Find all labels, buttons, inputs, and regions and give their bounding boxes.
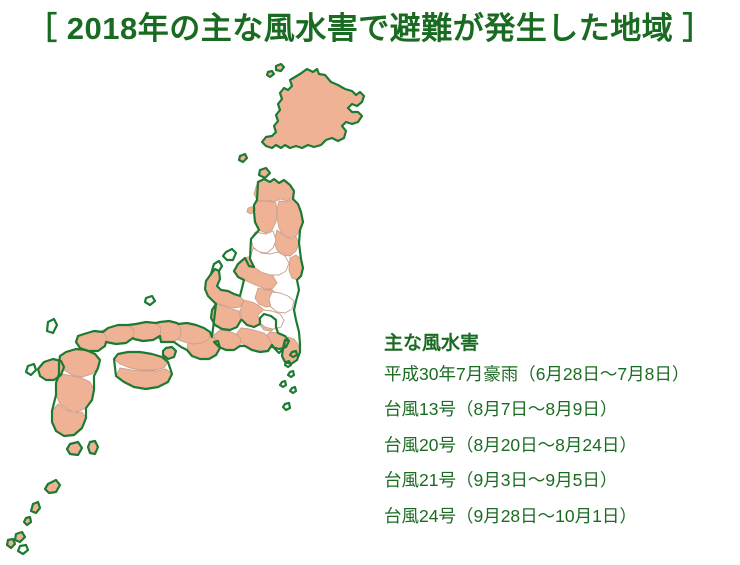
- japan-prefecture-map: 2018年の主な風水害で避難が発生した地域を示す日本地図: [0, 52, 400, 565]
- region-tochigi-ibaraki: [269, 292, 294, 313]
- region-shizuoka: [237, 328, 272, 352]
- affected-prefectures-layer: [7, 64, 364, 548]
- coast-sado-island: [223, 249, 236, 260]
- region-ehime-kagawa: [114, 352, 168, 370]
- legend-item-1: 台風13号（8月7日〜8月9日）: [384, 401, 736, 419]
- coast-oki-islands: [145, 296, 155, 305]
- legend: 主な風水害 平成30年7月豪雨（6月28日〜7月8日） 台風13号（8月7日〜8…: [384, 334, 736, 525]
- coast-izu-island-c: [288, 371, 294, 377]
- page-title-bar: ［ 2018年の主な風水害で避難が発生した地域 ］: [0, 0, 740, 56]
- legend-heading: 主な風水害: [384, 334, 736, 355]
- map-container: 2018年の主な風水害で避難が発生した地域を示す日本地図: [0, 52, 400, 565]
- coast-izu-island-d: [280, 381, 286, 387]
- coast-izu-island-e: [290, 387, 296, 393]
- coast-ryukyu-islet-e: [18, 545, 28, 554]
- page-title: ［ 2018年の主な風水害で避難が発生した地域 ］: [26, 13, 714, 44]
- legend-item-0: 平成30年7月豪雨（6月28日〜7月8日）: [384, 366, 736, 384]
- coast-tsushima: [47, 319, 57, 333]
- legend-item-2: 台風20号（8月20日〜8月24日）: [384, 437, 736, 455]
- legend-item-4: 台風24号（9月28日〜10月1日）: [384, 508, 736, 526]
- coast-izu-island-f: [283, 403, 290, 410]
- region-kochi-tokushima: [116, 368, 172, 389]
- legend-item-3: 台風21号（9月3日〜9月5日）: [384, 472, 736, 490]
- coast-goto-islands: [26, 364, 36, 375]
- infographic-page: ［ 2018年の主な風水害で避難が発生した地域 ］ 2018年の主な風水害で避難…: [0, 0, 740, 565]
